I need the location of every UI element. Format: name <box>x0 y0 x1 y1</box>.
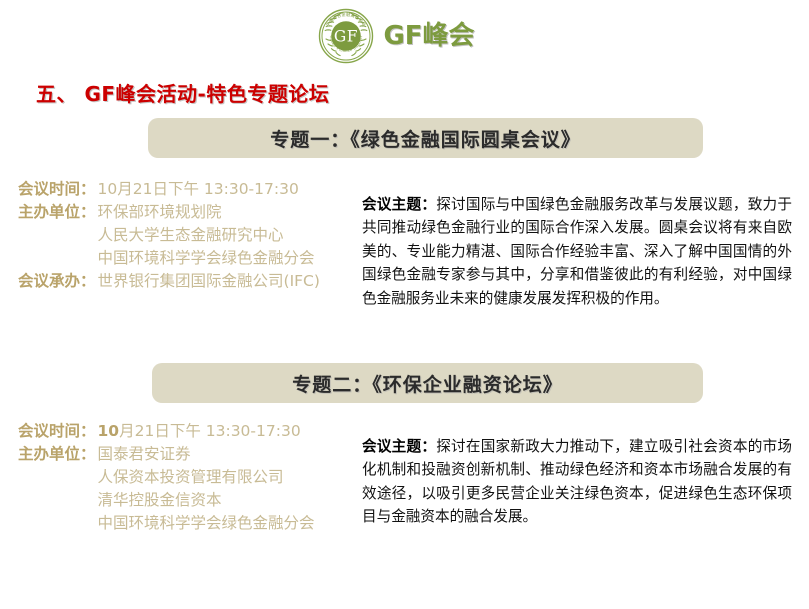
info-value: 中国环境科学学会绿色金融分会 <box>96 247 315 270</box>
info-value: 中国环境科学学会绿色金融分会 <box>96 512 315 535</box>
topic-banner-1: 专题一：《绿色金融国际圆桌会议》 <box>148 118 703 158</box>
info-row: 主办单位： 清华控股金信资本 <box>18 489 358 512</box>
info-value: 环保部环境规划院 <box>96 201 222 224</box>
info-label: 主办单位： <box>18 443 96 466</box>
info-label: 会议承办： <box>18 270 96 293</box>
info-value: 世界银行集团国际金融公司(IFC) <box>96 270 320 293</box>
info-row: 会议承办： 世界银行集团国际金融公司(IFC) <box>18 270 358 293</box>
brand-title: GF峰会 <box>383 23 474 49</box>
info-row: 主办单位： 中国环境科学学会绿色金融分会 <box>18 247 358 270</box>
info-value: 清华控股金信资本 <box>96 489 222 512</box>
info-value: 10月21日下午 13:30-17:30 <box>96 420 301 443</box>
info-row: 主办单位： 环保部环境规划院 <box>18 201 358 224</box>
topic-2-info-list: 会议时间： 10月21日下午 13:30-17:30 主办单位： 国泰君安证券 … <box>18 420 358 535</box>
topic-1-theme: 会议主题：探讨国际与中国绿色金融服务改革与发展议题，致力于共同推动绿色金融行业的… <box>362 178 792 325</box>
page-title: 五、 GF峰会活动-特色专题论坛 <box>36 78 329 107</box>
info-value-emphasis: 10 <box>98 422 120 440</box>
page-header: GF 中国绿色金融高峰论坛 Green Finance Summit GF峰会 <box>0 0 809 72</box>
info-row: 会议时间： 10月21日下午 13:30-17:30 <box>18 420 358 443</box>
info-row: 主办单位： 中国环境科学学会绿色金融分会 <box>18 512 358 535</box>
gf-summit-emblem-icon: GF 中国绿色金融高峰论坛 Green Finance Summit <box>318 8 374 64</box>
info-value: 10月21日下午 13:30-17:30 <box>96 178 299 201</box>
topic-banner-1-title: 专题一：《绿色金融国际圆桌会议》 <box>270 125 581 152</box>
brand-logo: GF 中国绿色金融高峰论坛 Green Finance Summit GF峰会 <box>318 8 474 64</box>
info-row: 主办单位： 国泰君安证券 <box>18 443 358 466</box>
info-row: 主办单位： 人民大学生态金融研究中心 <box>18 224 358 247</box>
svg-text:GF: GF <box>334 28 358 46</box>
info-row: 会议时间： 10月21日下午 13:30-17:30 <box>18 178 358 201</box>
theme-paragraph: 会议主题：探讨在国家新政大力推动下，建立吸引社会资本的市场化机制和投融资创新机制… <box>362 435 792 529</box>
info-value: 国泰君安证券 <box>96 443 191 466</box>
topic-banner-2: 专题二：《环保企业融资论坛》 <box>152 363 703 403</box>
info-value: 人民大学生态金融研究中心 <box>96 224 284 247</box>
info-label: 会议时间： <box>18 178 96 201</box>
theme-label: 会议主题： <box>362 438 436 455</box>
info-row: 主办单位： 人保资本投资管理有限公司 <box>18 466 358 489</box>
info-label: 主办单位： <box>18 201 96 224</box>
topic-banner-2-title: 专题二：《环保企业融资论坛》 <box>292 370 563 397</box>
topic-1-info-list: 会议时间： 10月21日下午 13:30-17:30 主办单位： 环保部环境规划… <box>18 178 358 293</box>
info-value: 人保资本投资管理有限公司 <box>96 466 284 489</box>
theme-paragraph: 会议主题：探讨国际与中国绿色金融服务改革与发展议题，致力于共同推动绿色金融行业的… <box>362 193 792 311</box>
theme-label: 会议主题： <box>362 196 436 213</box>
info-label: 会议时间： <box>18 420 96 443</box>
info-value-rest: 月21日下午 13:30-17:30 <box>119 422 301 440</box>
topic-2-theme: 会议主题：探讨在国家新政大力推动下，建立吸引社会资本的市场化机制和投融资创新机制… <box>362 420 792 543</box>
